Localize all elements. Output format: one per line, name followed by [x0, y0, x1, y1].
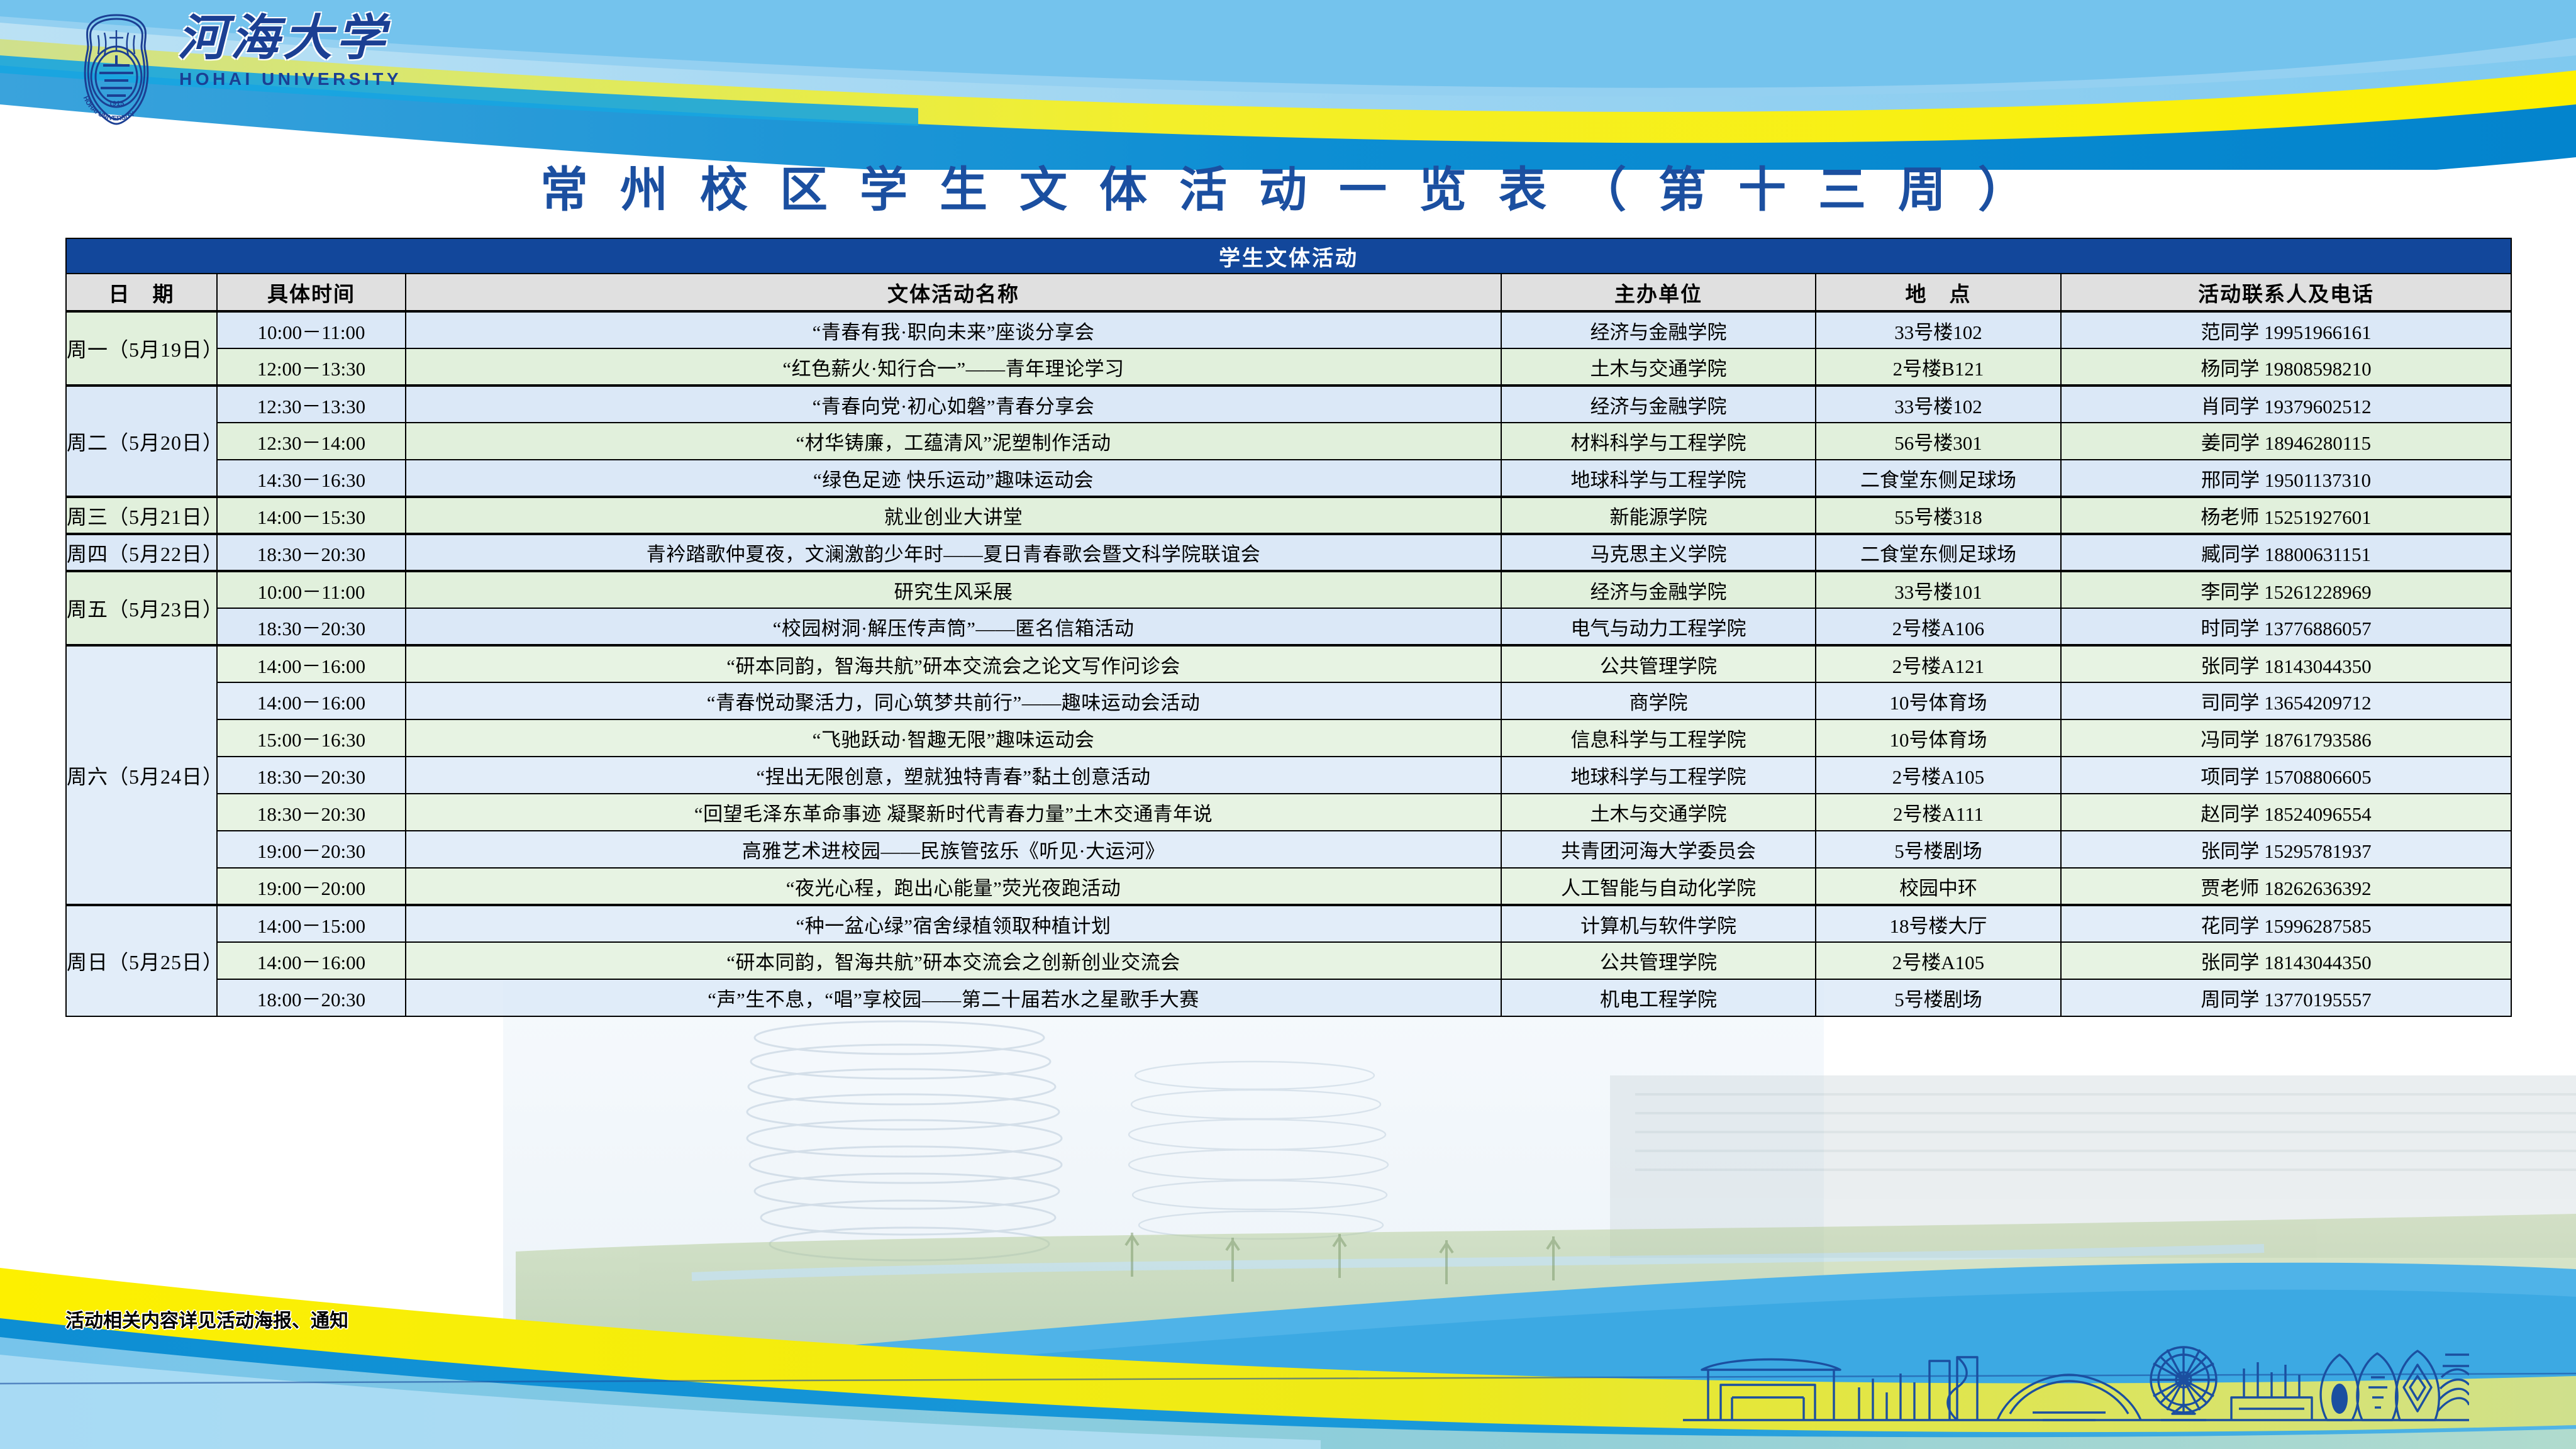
activity-name-cell: “青春悦动聚活力，同心筑梦共前行”——趣味运动会活动 — [406, 682, 1501, 719]
changzhou-skyline-icons — [1683, 1319, 2469, 1433]
contact-cell: 范同学 19951966161 — [2061, 311, 2511, 348]
location-cell: 2号楼A121 — [1816, 645, 2061, 682]
contact-cell: 张同学 18143044350 — [2061, 645, 2511, 682]
activity-name-cell: “回望毛泽东革命事迹 凝聚新时代青春力量”土木交通青年说 — [406, 794, 1501, 831]
table-row: 19:00－20:00“夜光心程，跑出心能量”荧光夜跑活动人工智能与自动化学院校… — [66, 868, 2511, 905]
contact-cell: 杨老师 15251927601 — [2061, 497, 2511, 534]
table-row: 19:00－20:30高雅艺术进校园——民族管弦乐《听见·大运河》共青团河海大学… — [66, 831, 2511, 868]
day-cell: 周三（5月21日） — [66, 497, 217, 534]
activity-name-cell: 研究生风采展 — [406, 571, 1501, 608]
page-title: 常 州 校 区 学 生 文 体 活 动 一 览 表 （ 第 十 三 周 ） — [0, 151, 2576, 220]
contact-cell: 周同学 13770195557 — [2061, 979, 2511, 1016]
time-cell: 14:00－16:00 — [217, 645, 406, 682]
table-row: 周一（5月19日）10:00－11:00“青春有我·职向未来”座谈分享会经济与金… — [66, 311, 2511, 348]
time-cell: 12:30－14:00 — [217, 423, 406, 460]
day-cell: 周一（5月19日） — [66, 311, 217, 386]
day-cell: 周四（5月22日） — [66, 534, 217, 571]
activity-name-cell: “青春有我·职向未来”座谈分享会 — [406, 311, 1501, 348]
contact-cell: 张同学 15295781937 — [2061, 831, 2511, 868]
organizer-cell: 土木与交通学院 — [1501, 348, 1816, 386]
table-row: 14:00－16:00“青春悦动聚活力，同心筑梦共前行”——趣味运动会活动商学院… — [66, 682, 2511, 719]
day-cell: 周六（5月24日） — [66, 645, 217, 905]
contact-cell: 李同学 15261228969 — [2061, 571, 2511, 608]
activity-table: 学生文体活动日 期具体时间文体活动名称主办单位地 点活动联系人及电话周一（5月1… — [65, 238, 2512, 1017]
location-cell: 二食堂东侧足球场 — [1816, 460, 2061, 497]
col-header-activity-name: 文体活动名称 — [406, 274, 1501, 311]
day-cell: 周日（5月25日） — [66, 905, 217, 1016]
time-cell: 18:30－20:30 — [217, 608, 406, 645]
svg-text:1915: 1915 — [109, 100, 124, 108]
organizer-cell: 马克思主义学院 — [1501, 534, 1816, 571]
table-header-row: 日 期具体时间文体活动名称主办单位地 点活动联系人及电话 — [66, 274, 2511, 311]
organizer-cell: 共青团河海大学委员会 — [1501, 831, 1816, 868]
activity-name-cell: “青春向党·初心如磐”青春分享会 — [406, 386, 1501, 423]
logo-name-cn: 河海大学 — [177, 14, 402, 63]
table-row: 12:30－14:00“材华铸廉，工蕴清风”泥塑制作活动材料科学与工程学院56号… — [66, 423, 2511, 460]
activity-name-cell: “材华铸廉，工蕴清风”泥塑制作活动 — [406, 423, 1501, 460]
page-title-text: 常 州 校 区 学 生 文 体 活 动 一 览 表 （ 第 十 三 周 ） — [540, 164, 2036, 217]
location-cell: 2号楼B121 — [1816, 348, 2061, 386]
activity-name-cell: “捏出无限创意，塑就独特青春”黏土创意活动 — [406, 757, 1501, 794]
col-header-date: 日 期 — [66, 274, 217, 311]
time-cell: 14:00－15:00 — [217, 905, 406, 942]
organizer-cell: 地球科学与工程学院 — [1501, 757, 1816, 794]
table-row: 周二（5月20日）12:30－13:30“青春向党·初心如磐”青春分享会经济与金… — [66, 386, 2511, 423]
activity-name-cell: 高雅艺术进校园——民族管弦乐《听见·大运河》 — [406, 831, 1501, 868]
activity-name-cell: “红色薪火·知行合一”——青年理论学习 — [406, 348, 1501, 386]
table-row: 周三（5月21日）14:00－15:30就业创业大讲堂新能源学院55号楼318杨… — [66, 497, 2511, 534]
time-cell: 14:00－15:30 — [217, 497, 406, 534]
table-row: 周六（5月24日）14:00－16:00“研本同韵，智海共航”研本交流会之论文写… — [66, 645, 2511, 682]
day-cell: 周五（5月23日） — [66, 571, 217, 645]
organizer-cell: 信息科学与工程学院 — [1501, 719, 1816, 757]
organizer-cell: 机电工程学院 — [1501, 979, 1816, 1016]
time-cell: 10:00－11:00 — [217, 311, 406, 348]
organizer-cell: 经济与金融学院 — [1501, 311, 1816, 348]
time-cell: 14:30－16:30 — [217, 460, 406, 497]
contact-cell: 冯同学 18761793586 — [2061, 719, 2511, 757]
col-header-time: 具体时间 — [217, 274, 406, 311]
organizer-cell: 新能源学院 — [1501, 497, 1816, 534]
organizer-cell: 电气与动力工程学院 — [1501, 608, 1816, 645]
activity-name-cell: “夜光心程，跑出心能量”荧光夜跑活动 — [406, 868, 1501, 905]
location-cell: 33号楼102 — [1816, 311, 2061, 348]
organizer-cell: 地球科学与工程学院 — [1501, 460, 1816, 497]
time-cell: 19:00－20:00 — [217, 868, 406, 905]
table-row: 15:00－16:30“飞驰跃动·智趣无限”趣味运动会信息科学与工程学院10号体… — [66, 719, 2511, 757]
activity-name-cell: “声”生不息，“唱”享校园——第二十届若水之星歌手大赛 — [406, 979, 1501, 1016]
organizer-cell: 材料科学与工程学院 — [1501, 423, 1816, 460]
location-cell: 5号楼剧场 — [1816, 831, 2061, 868]
contact-cell: 臧同学 18800631151 — [2061, 534, 2511, 571]
organizer-cell: 商学院 — [1501, 682, 1816, 719]
table-row: 周日（5月25日）14:00－15:00“种一盆心绿”宿舍绿植领取种植计划计算机… — [66, 905, 2511, 942]
time-cell: 12:00－13:30 — [217, 348, 406, 386]
activity-name-cell: “飞驰跃动·智趣无限”趣味运动会 — [406, 719, 1501, 757]
table-row: 12:00－13:30“红色薪火·知行合一”——青年理论学习土木与交通学院2号楼… — [66, 348, 2511, 386]
activity-name-cell: “校园树洞·解压传声筒”——匿名信箱活动 — [406, 608, 1501, 645]
time-cell: 18:30－20:30 — [217, 757, 406, 794]
organizer-cell: 公共管理学院 — [1501, 645, 1816, 682]
time-cell: 18:00－20:30 — [217, 979, 406, 1016]
footer-note: 活动相关内容详见活动海报、通知 — [65, 1305, 348, 1333]
table-banner-row: 学生文体活动 — [66, 238, 2511, 274]
contact-cell: 时同学 13776886057 — [2061, 608, 2511, 645]
activity-name-cell: “研本同韵，智海共航”研本交流会之论文写作问诊会 — [406, 645, 1501, 682]
table-row: 周五（5月23日）10:00－11:00研究生风采展经济与金融学院33号楼101… — [66, 571, 2511, 608]
activity-name-cell: “研本同韵，智海共航”研本交流会之创新创业交流会 — [406, 942, 1501, 979]
activity-name-cell: 就业创业大讲堂 — [406, 497, 1501, 534]
contact-cell: 肖同学 19379602512 — [2061, 386, 2511, 423]
time-cell: 12:30－13:30 — [217, 386, 406, 423]
location-cell: 2号楼A105 — [1816, 757, 2061, 794]
organizer-cell: 公共管理学院 — [1501, 942, 1816, 979]
poster-page: 1915 HOHAI UNIVERSITY 河海大学 HOHAI UNIVERS… — [0, 0, 2576, 1449]
location-cell: 33号楼101 — [1816, 571, 2061, 608]
activity-table-body: 学生文体活动日 期具体时间文体活动名称主办单位地 点活动联系人及电话周一（5月1… — [66, 238, 2511, 1016]
organizer-cell: 经济与金融学院 — [1501, 386, 1816, 423]
location-cell: 55号楼318 — [1816, 497, 2061, 534]
hohai-seal-icon: 1915 HOHAI UNIVERSITY — [63, 11, 170, 128]
organizer-cell: 土木与交通学院 — [1501, 794, 1816, 831]
contact-cell: 花同学 15996287585 — [2061, 905, 2511, 942]
time-cell: 19:00－20:30 — [217, 831, 406, 868]
location-cell: 33号楼102 — [1816, 386, 2061, 423]
university-logo: 1915 HOHAI UNIVERSITY 河海大学 HOHAI UNIVERS… — [63, 11, 402, 128]
table-row: 18:30－20:30“捏出无限创意，塑就独特青春”黏土创意活动地球科学与工程学… — [66, 757, 2511, 794]
table-banner-cell: 学生文体活动 — [66, 238, 2511, 274]
location-cell: 2号楼A106 — [1816, 608, 2061, 645]
contact-cell: 项同学 15708806605 — [2061, 757, 2511, 794]
organizer-cell: 人工智能与自动化学院 — [1501, 868, 1816, 905]
activity-table-wrap: 学生文体活动日 期具体时间文体活动名称主办单位地 点活动联系人及电话周一（5月1… — [65, 238, 2511, 1017]
location-cell: 校园中环 — [1816, 868, 2061, 905]
activity-name-cell: “种一盆心绿”宿舍绿植领取种植计划 — [406, 905, 1501, 942]
col-header-organizer: 主办单位 — [1501, 274, 1816, 311]
table-row: 14:00－16:00“研本同韵，智海共航”研本交流会之创新创业交流会公共管理学… — [66, 942, 2511, 979]
location-cell: 56号楼301 — [1816, 423, 2061, 460]
contact-cell: 姜同学 18946280115 — [2061, 423, 2511, 460]
contact-cell: 司同学 13654209712 — [2061, 682, 2511, 719]
location-cell: 5号楼剧场 — [1816, 979, 2061, 1016]
table-row: 18:30－20:30“校园树洞·解压传声筒”——匿名信箱活动电气与动力工程学院… — [66, 608, 2511, 645]
table-row: 周四（5月22日）18:30－20:30青衿踏歌仲夏夜，文澜激韵少年时——夏日青… — [66, 534, 2511, 571]
location-cell: 2号楼A105 — [1816, 942, 2061, 979]
table-row: 18:00－20:30“声”生不息，“唱”享校园——第二十届若水之星歌手大赛机电… — [66, 979, 2511, 1016]
time-cell: 18:30－20:30 — [217, 534, 406, 571]
time-cell: 14:00－16:00 — [217, 682, 406, 719]
day-cell: 周二（5月20日） — [66, 386, 217, 497]
organizer-cell: 经济与金融学院 — [1501, 571, 1816, 608]
contact-cell: 赵同学 18524096554 — [2061, 794, 2511, 831]
col-header-location: 地 点 — [1816, 274, 2061, 311]
time-cell: 14:00－16:00 — [217, 942, 406, 979]
location-cell: 二食堂东侧足球场 — [1816, 534, 2061, 571]
contact-cell: 邢同学 19501137310 — [2061, 460, 2511, 497]
organizer-cell: 计算机与软件学院 — [1501, 905, 1816, 942]
table-row: 18:30－20:30“回望毛泽东革命事迹 凝聚新时代青春力量”土木交通青年说土… — [66, 794, 2511, 831]
contact-cell: 杨同学 19808598210 — [2061, 348, 2511, 386]
logo-name-en: HOHAI UNIVERSITY — [179, 69, 402, 89]
contact-cell: 贾老师 18262636392 — [2061, 868, 2511, 905]
table-row: 14:30－16:30“绿色足迹 快乐运动”趣味运动会地球科学与工程学院二食堂东… — [66, 460, 2511, 497]
time-cell: 15:00－16:30 — [217, 719, 406, 757]
time-cell: 10:00－11:00 — [217, 571, 406, 608]
activity-name-cell: 青衿踏歌仲夏夜，文澜激韵少年时——夏日青春歌会暨文科学院联谊会 — [406, 534, 1501, 571]
location-cell: 18号楼大厅 — [1816, 905, 2061, 942]
time-cell: 18:30－20:30 — [217, 794, 406, 831]
location-cell: 2号楼A111 — [1816, 794, 2061, 831]
activity-name-cell: “绿色足迹 快乐运动”趣味运动会 — [406, 460, 1501, 497]
location-cell: 10号体育场 — [1816, 682, 2061, 719]
location-cell: 10号体育场 — [1816, 719, 2061, 757]
col-header-contact: 活动联系人及电话 — [2061, 274, 2511, 311]
contact-cell: 张同学 18143044350 — [2061, 942, 2511, 979]
